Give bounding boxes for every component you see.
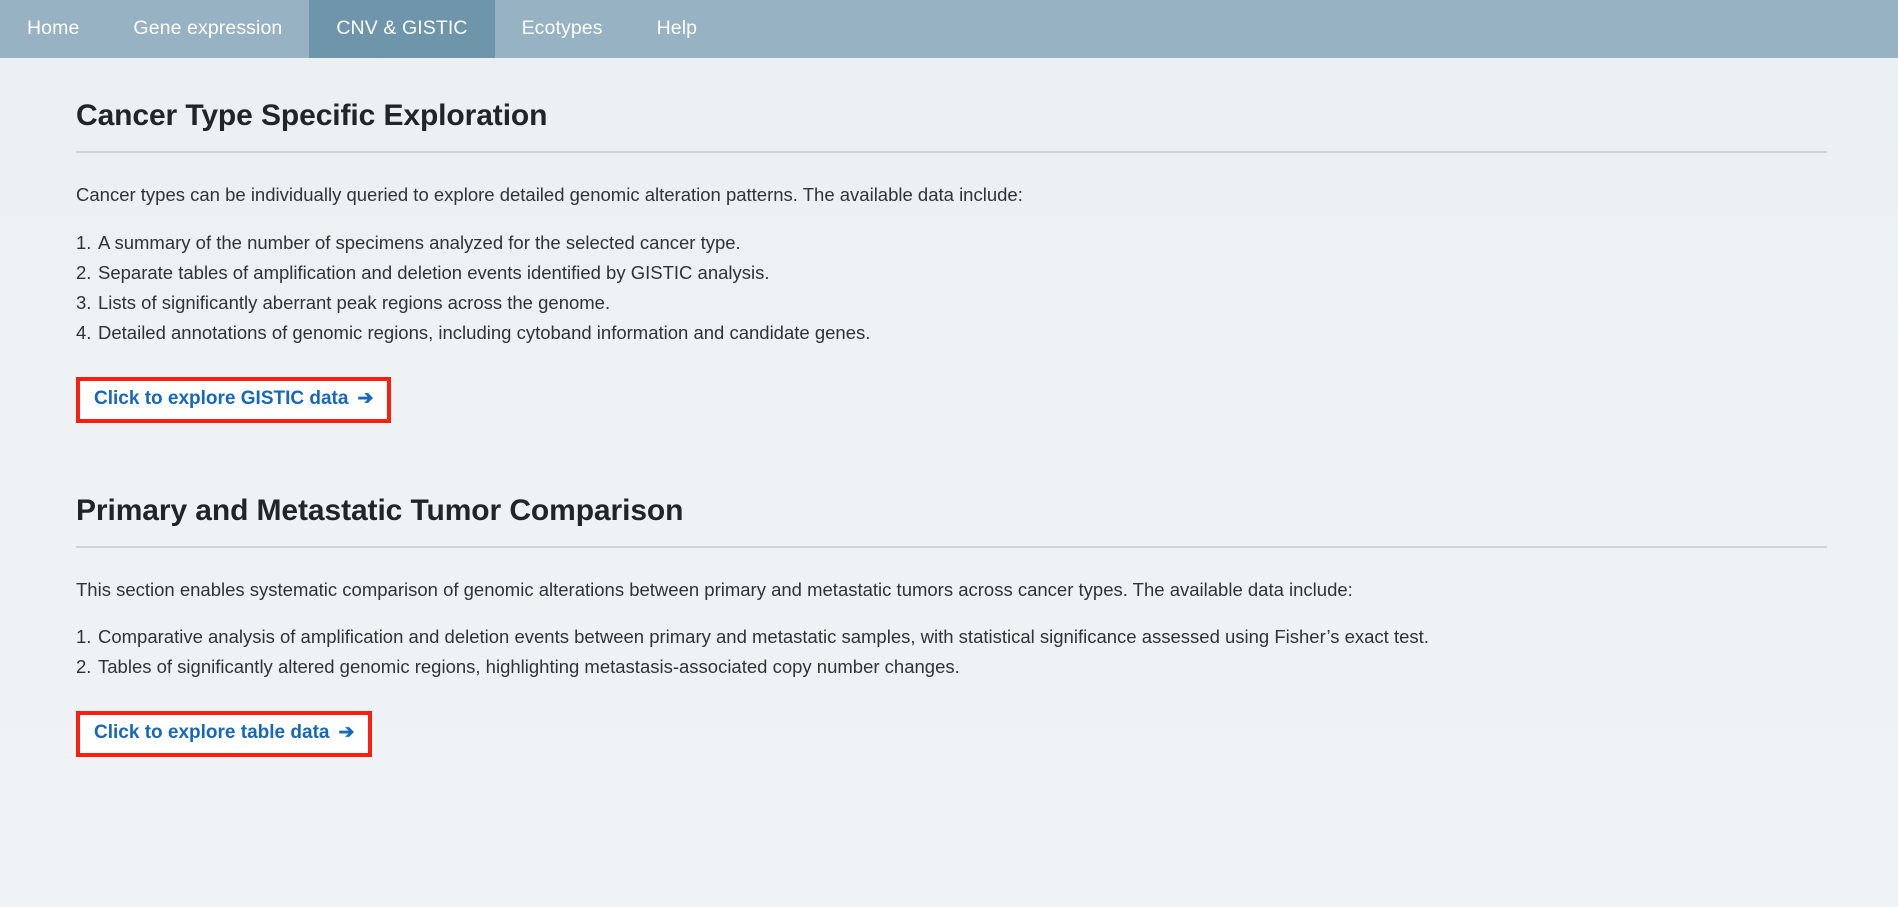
section-point-list: 1. Comparative analysis of amplification… [76,622,1827,682]
nav-item-gene-expression[interactable]: Gene expression [106,0,309,58]
section-title: Cancer Type Specific Exploration [76,58,1827,133]
section-divider [76,151,1827,153]
explore-gistic-data-link[interactable]: Click to explore GISTIC data ➔ [76,377,391,423]
cta-container: Click to explore table data ➔ [76,711,1827,757]
list-item: 1. A summary of the number of specimens … [76,228,1827,258]
list-item: 1. Comparative analysis of amplification… [76,622,1827,652]
list-item-text: Tables of significantly altered genomic … [98,656,960,677]
list-item: 2. Tables of significantly altered genom… [76,652,1827,682]
cta-label: Click to explore GISTIC data [94,389,348,410]
list-item-number: 1. [76,622,91,652]
list-item-number: 4. [76,318,91,348]
arrow-right-icon: ➔ [357,389,373,408]
list-item-number: 2. [76,652,91,682]
nav-item-label: CNV & GISTIC [336,19,467,39]
nav-item-cnv-gistic[interactable]: CNV & GISTIC [309,0,494,58]
section-lead-text: This section enables systematic comparis… [76,576,1827,604]
nav-item-home[interactable]: Home [0,0,106,58]
page-content: Cancer Type Specific Exploration Cancer … [0,58,1898,757]
list-item-text: Detailed annotations of genomic regions,… [98,322,870,343]
list-item-text: Comparative analysis of amplification an… [98,626,1429,647]
arrow-right-icon: ➔ [338,723,354,742]
list-item-text: A summary of the number of specimens ana… [98,232,741,253]
section-lead-text: Cancer types can be individually queried… [76,181,1827,209]
list-item: 4. Detailed annotations of genomic regio… [76,318,1827,348]
list-item: 3. Lists of significantly aberrant peak … [76,288,1827,318]
nav-item-label: Gene expression [133,19,282,39]
list-item-text: Lists of significantly aberrant peak reg… [98,292,610,313]
list-item-number: 3. [76,288,91,318]
list-item-number: 1. [76,228,91,258]
nav-item-ecotypes[interactable]: Ecotypes [495,0,630,58]
section-title: Primary and Metastatic Tumor Comparison [76,453,1827,528]
nav-item-label: Ecotypes [522,19,603,39]
section-gap [76,423,1898,453]
section-primary-metastatic-comparison: Primary and Metastatic Tumor Comparison … [76,453,1827,758]
section-point-list: 1. A summary of the number of specimens … [76,228,1827,348]
explore-table-data-link[interactable]: Click to explore table data ➔ [76,711,372,757]
section-divider [76,546,1827,548]
cta-label: Click to explore table data [94,723,329,744]
list-item-number: 2. [76,258,91,288]
nav-item-label: Home [27,19,79,39]
nav-item-label: Help [657,19,698,39]
list-item: 2. Separate tables of amplification and … [76,258,1827,288]
section-cancer-type-specific-exploration: Cancer Type Specific Exploration Cancer … [76,58,1827,423]
main-navigation: Home Gene expression CNV & GISTIC Ecotyp… [0,0,1898,58]
list-item-text: Separate tables of amplification and del… [98,262,770,283]
nav-item-help[interactable]: Help [630,0,725,58]
cta-container: Click to explore GISTIC data ➔ [76,377,1827,423]
